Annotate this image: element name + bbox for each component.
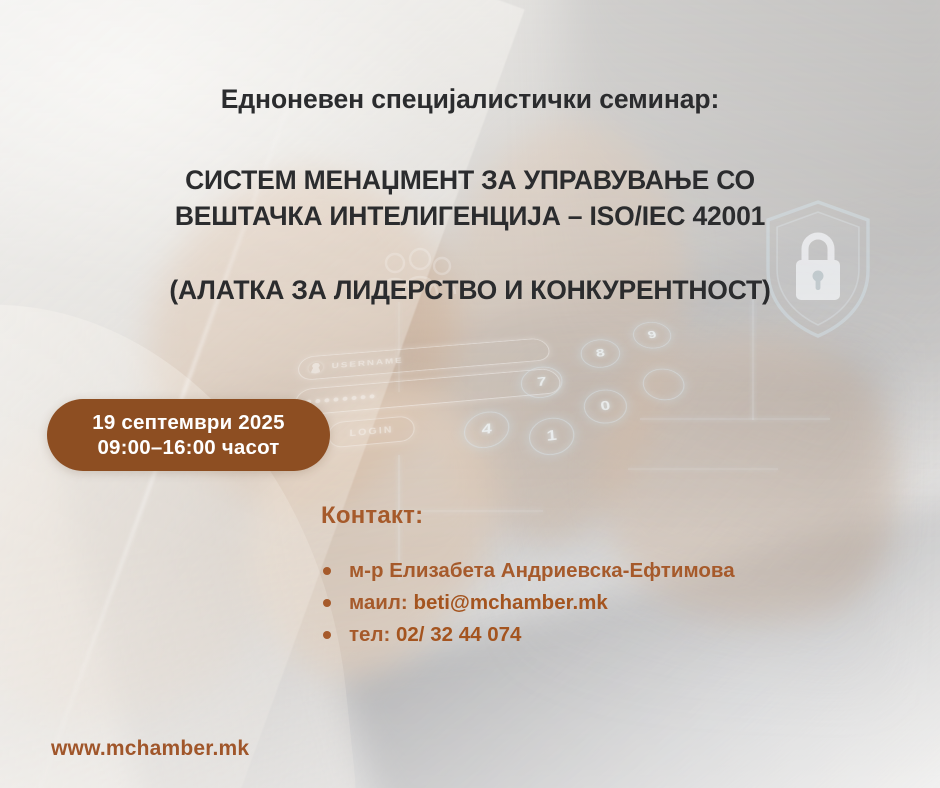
- contact-heading: Контакт:: [321, 502, 735, 530]
- contact-email-value[interactable]: beti@mchamber.mk: [413, 591, 607, 614]
- title-subtitle-paren: (АЛАТКА ЗА ЛИДЕРСТВО И КОНКУРЕНТНОСТ): [0, 275, 940, 306]
- page-title: СИСТЕМ МЕНАЏМЕНТ ЗА УПРАВУВАЊЕ СО ВЕШТАЧ…: [0, 162, 940, 235]
- badge-date: 19 септември 2025: [92, 410, 284, 435]
- contact-list: м-р Елизабета Андриевска-Ефтимова маил: …: [321, 556, 735, 649]
- bullet-icon: [323, 599, 331, 607]
- bullet-icon: [323, 631, 331, 639]
- contact-section: Контакт: м-р Елизабета Андриевска-Ефтимо…: [321, 502, 735, 652]
- list-item: маил: beti@mchamber.mk: [321, 588, 735, 617]
- contact-phone-value[interactable]: 02/ 32 44 074: [396, 623, 521, 646]
- kicker-text: Едноневен специјалистички семинар:: [0, 84, 940, 116]
- title-line-2: ВЕШТАЧКА ИНТЕЛИГЕНЦИЈА – ISO/IEC 42001: [0, 198, 940, 235]
- bullet-icon: [323, 567, 331, 575]
- contact-person-name: м-р Елизабета Андриевска-Ефтимова: [349, 559, 735, 582]
- contact-phone-label: тел:: [349, 623, 396, 646]
- date-time-badge: 19 септември 2025 09:00–16:00 часот: [47, 399, 330, 471]
- poster-content: Едноневен специјалистички семинар: СИСТЕ…: [0, 0, 940, 788]
- poster-canvas: USERNAME LOGIN 4 7 1 8 0 9: [0, 0, 940, 788]
- contact-email-label: маил:: [349, 591, 413, 614]
- badge-time: 09:00–16:00 часот: [97, 435, 279, 460]
- title-block: Едноневен специјалистички семинар: СИСТЕ…: [0, 84, 940, 306]
- website-url[interactable]: www.mchamber.mk: [51, 737, 249, 761]
- list-item: м-р Елизабета Андриевска-Ефтимова: [321, 556, 735, 585]
- title-line-1: СИСТЕМ МЕНАЏМЕНТ ЗА УПРАВУВАЊЕ СО: [0, 162, 940, 199]
- list-item: тел: 02/ 32 44 074: [321, 620, 735, 649]
